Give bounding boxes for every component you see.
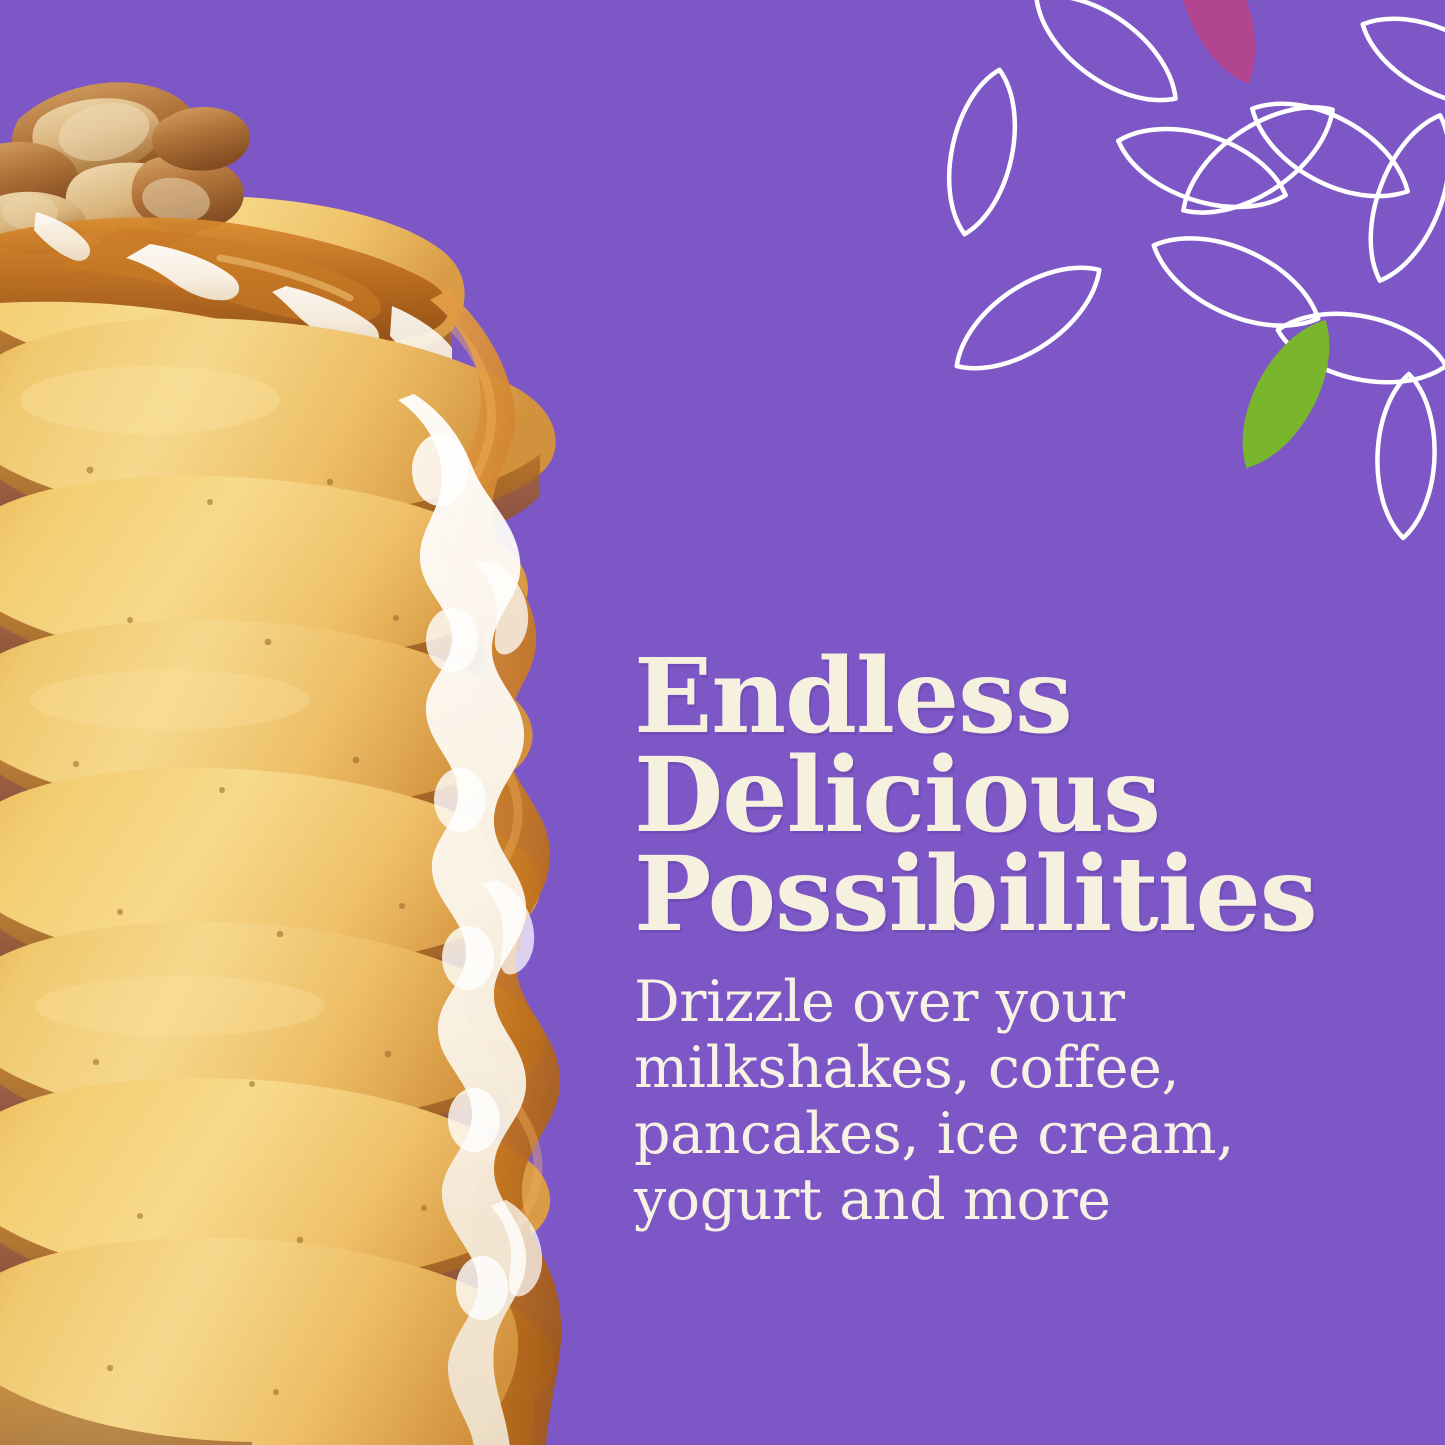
headline: Endless Delicious Possibilities bbox=[634, 648, 1394, 945]
promo-banner: Endless Delicious Possibilities Drizzle … bbox=[0, 0, 1445, 1445]
leaf-pattern-decoration bbox=[900, 0, 1445, 560]
pancake-stack-photo bbox=[0, 0, 640, 1445]
leaf-magenta-filled bbox=[1156, 0, 1276, 95]
leaf-green-filled bbox=[1220, 306, 1352, 483]
marketing-copy-block: Endless Delicious Possibilities Drizzle … bbox=[634, 648, 1394, 1233]
subcopy: Drizzle over your milkshakes, coffee, pa… bbox=[634, 969, 1394, 1233]
pancake-illustration bbox=[0, 0, 640, 1445]
leaf-outline-group bbox=[935, 0, 1445, 539]
